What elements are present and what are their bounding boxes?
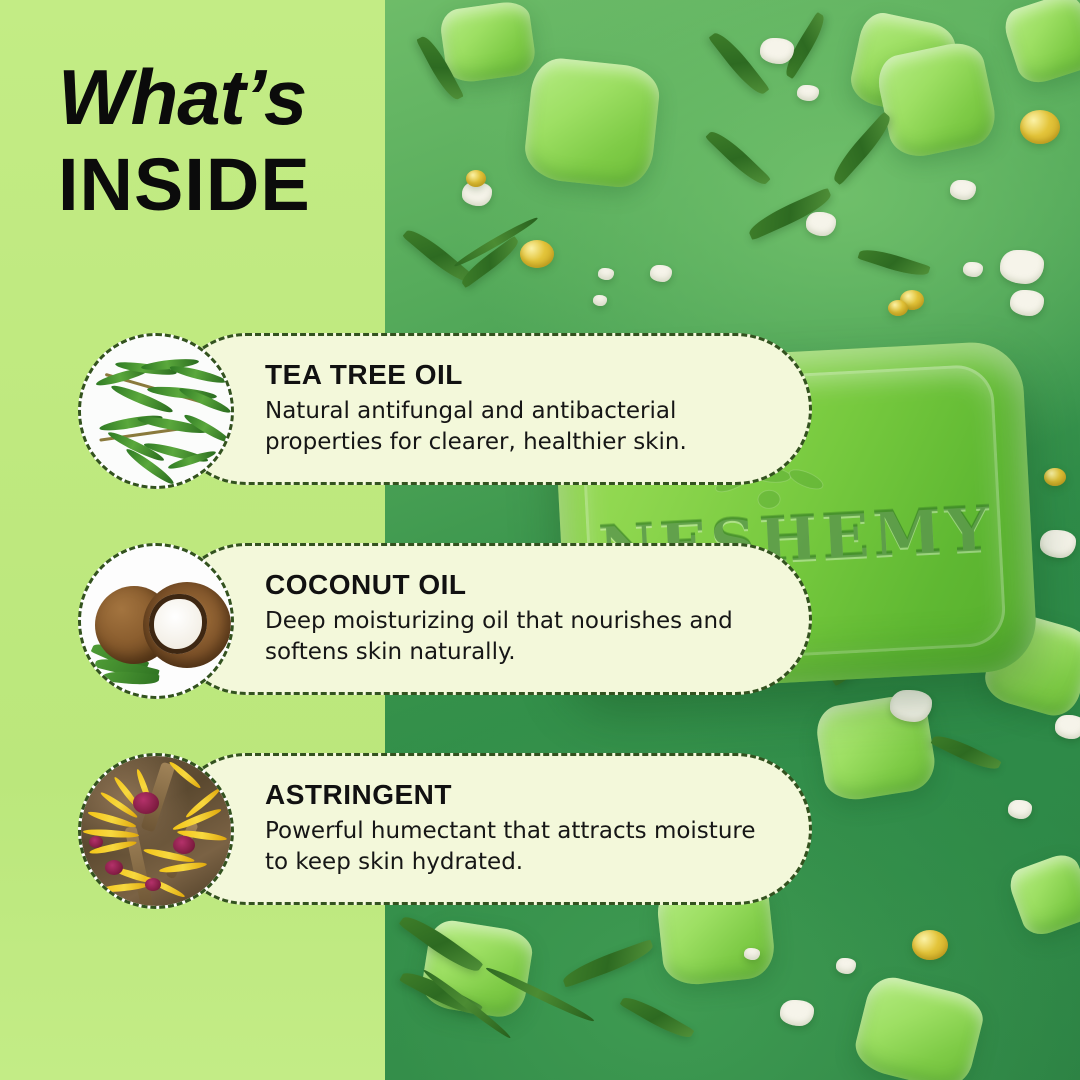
page-title-line1: What’s <box>58 58 311 136</box>
whats-inside-infographic: NESHEMY What’s INSIDE TEA TREE OIL Natur… <box>0 0 1080 1080</box>
page-title-line2: INSIDE <box>58 148 311 222</box>
page-title: What’s INSIDE <box>58 58 311 222</box>
coconut-halves-photo <box>81 546 231 696</box>
ingredient-card[interactable]: ASTRINGENT Powerful humectant that attra… <box>170 753 812 905</box>
ingredient-card[interactable]: COCONUT OIL Deep moisturizing oil that n… <box>170 543 812 695</box>
ingredient-title: COCONUT OIL <box>265 570 769 601</box>
ingredient-description: Powerful humectant that attracts moistur… <box>265 816 769 878</box>
tea-tree-sprig-photo <box>81 336 231 486</box>
ingredient-title: TEA TREE OIL <box>265 360 769 391</box>
ingredient-card[interactable]: TEA TREE OIL Natural antifungal and anti… <box>170 333 812 485</box>
ingredient-description: Deep moisturizing oil that nourishes and… <box>265 606 769 668</box>
witch-hazel-bloom-photo <box>81 756 231 906</box>
ingredient-thumbnail <box>78 543 234 699</box>
ingredient-title: ASTRINGENT <box>265 780 769 811</box>
ingredient-thumbnail <box>78 753 234 909</box>
ingredient-description: Natural antifungal and antibacterial pro… <box>265 396 769 458</box>
ingredient-thumbnail <box>78 333 234 489</box>
